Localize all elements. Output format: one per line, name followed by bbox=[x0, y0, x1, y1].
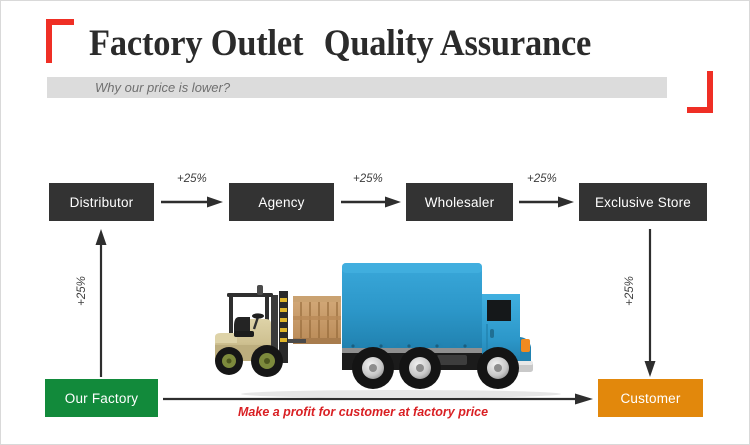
title-part-2: Quality Assurance bbox=[324, 23, 591, 64]
title-part-1: Factory Outlet bbox=[89, 23, 303, 64]
flow-node-wholesaler[interactable]: Wholesaler bbox=[406, 183, 513, 221]
markup-label-factory-distributor: +25% bbox=[76, 270, 88, 312]
arrow-store-to-customer-icon bbox=[644, 229, 656, 377]
markup-label-agency-wholesaler: +25% bbox=[353, 173, 383, 185]
arrow-factory-to-distributor-icon bbox=[95, 229, 107, 377]
slide-canvas: Factory OutletQuality Assurance Why our … bbox=[0, 0, 750, 445]
flow-node-wholesaler-label: Wholesaler bbox=[425, 195, 495, 210]
markup-label-distributor-agency: +25% bbox=[177, 173, 207, 185]
arrow-distributor-to-agency-icon bbox=[161, 196, 223, 208]
corner-bracket-top-left-icon bbox=[46, 19, 74, 63]
flow-node-our-factory[interactable]: Our Factory bbox=[45, 379, 158, 417]
arrow-agency-to-wholesaler-icon bbox=[341, 196, 401, 208]
page-title: Factory OutletQuality Assurance bbox=[89, 23, 647, 65]
flow-node-exclusive-store[interactable]: Exclusive Store bbox=[579, 183, 707, 221]
subtitle-text: Why our price is lower? bbox=[95, 78, 230, 97]
forklift-loading-truck-illustration bbox=[201, 251, 561, 401]
flow-node-customer[interactable]: Customer bbox=[598, 379, 703, 417]
flow-node-customer-label: Customer bbox=[620, 391, 680, 406]
flow-node-distributor-label: Distributor bbox=[70, 195, 134, 210]
flow-node-our-factory-label: Our Factory bbox=[65, 391, 138, 406]
markup-label-wholesaler-store: +25% bbox=[527, 173, 557, 185]
flow-node-agency-label: Agency bbox=[258, 195, 304, 210]
flow-node-distributor[interactable]: Distributor bbox=[49, 183, 154, 221]
markup-label-store-customer: +25% bbox=[624, 270, 636, 312]
corner-bracket-bottom-right-icon bbox=[687, 71, 713, 113]
arrow-wholesaler-to-store-icon bbox=[519, 196, 574, 208]
direct-route-note: Make a profit for customer at factory pr… bbox=[238, 405, 488, 419]
flow-node-agency[interactable]: Agency bbox=[229, 183, 334, 221]
flow-node-exclusive-store-label: Exclusive Store bbox=[595, 195, 691, 210]
